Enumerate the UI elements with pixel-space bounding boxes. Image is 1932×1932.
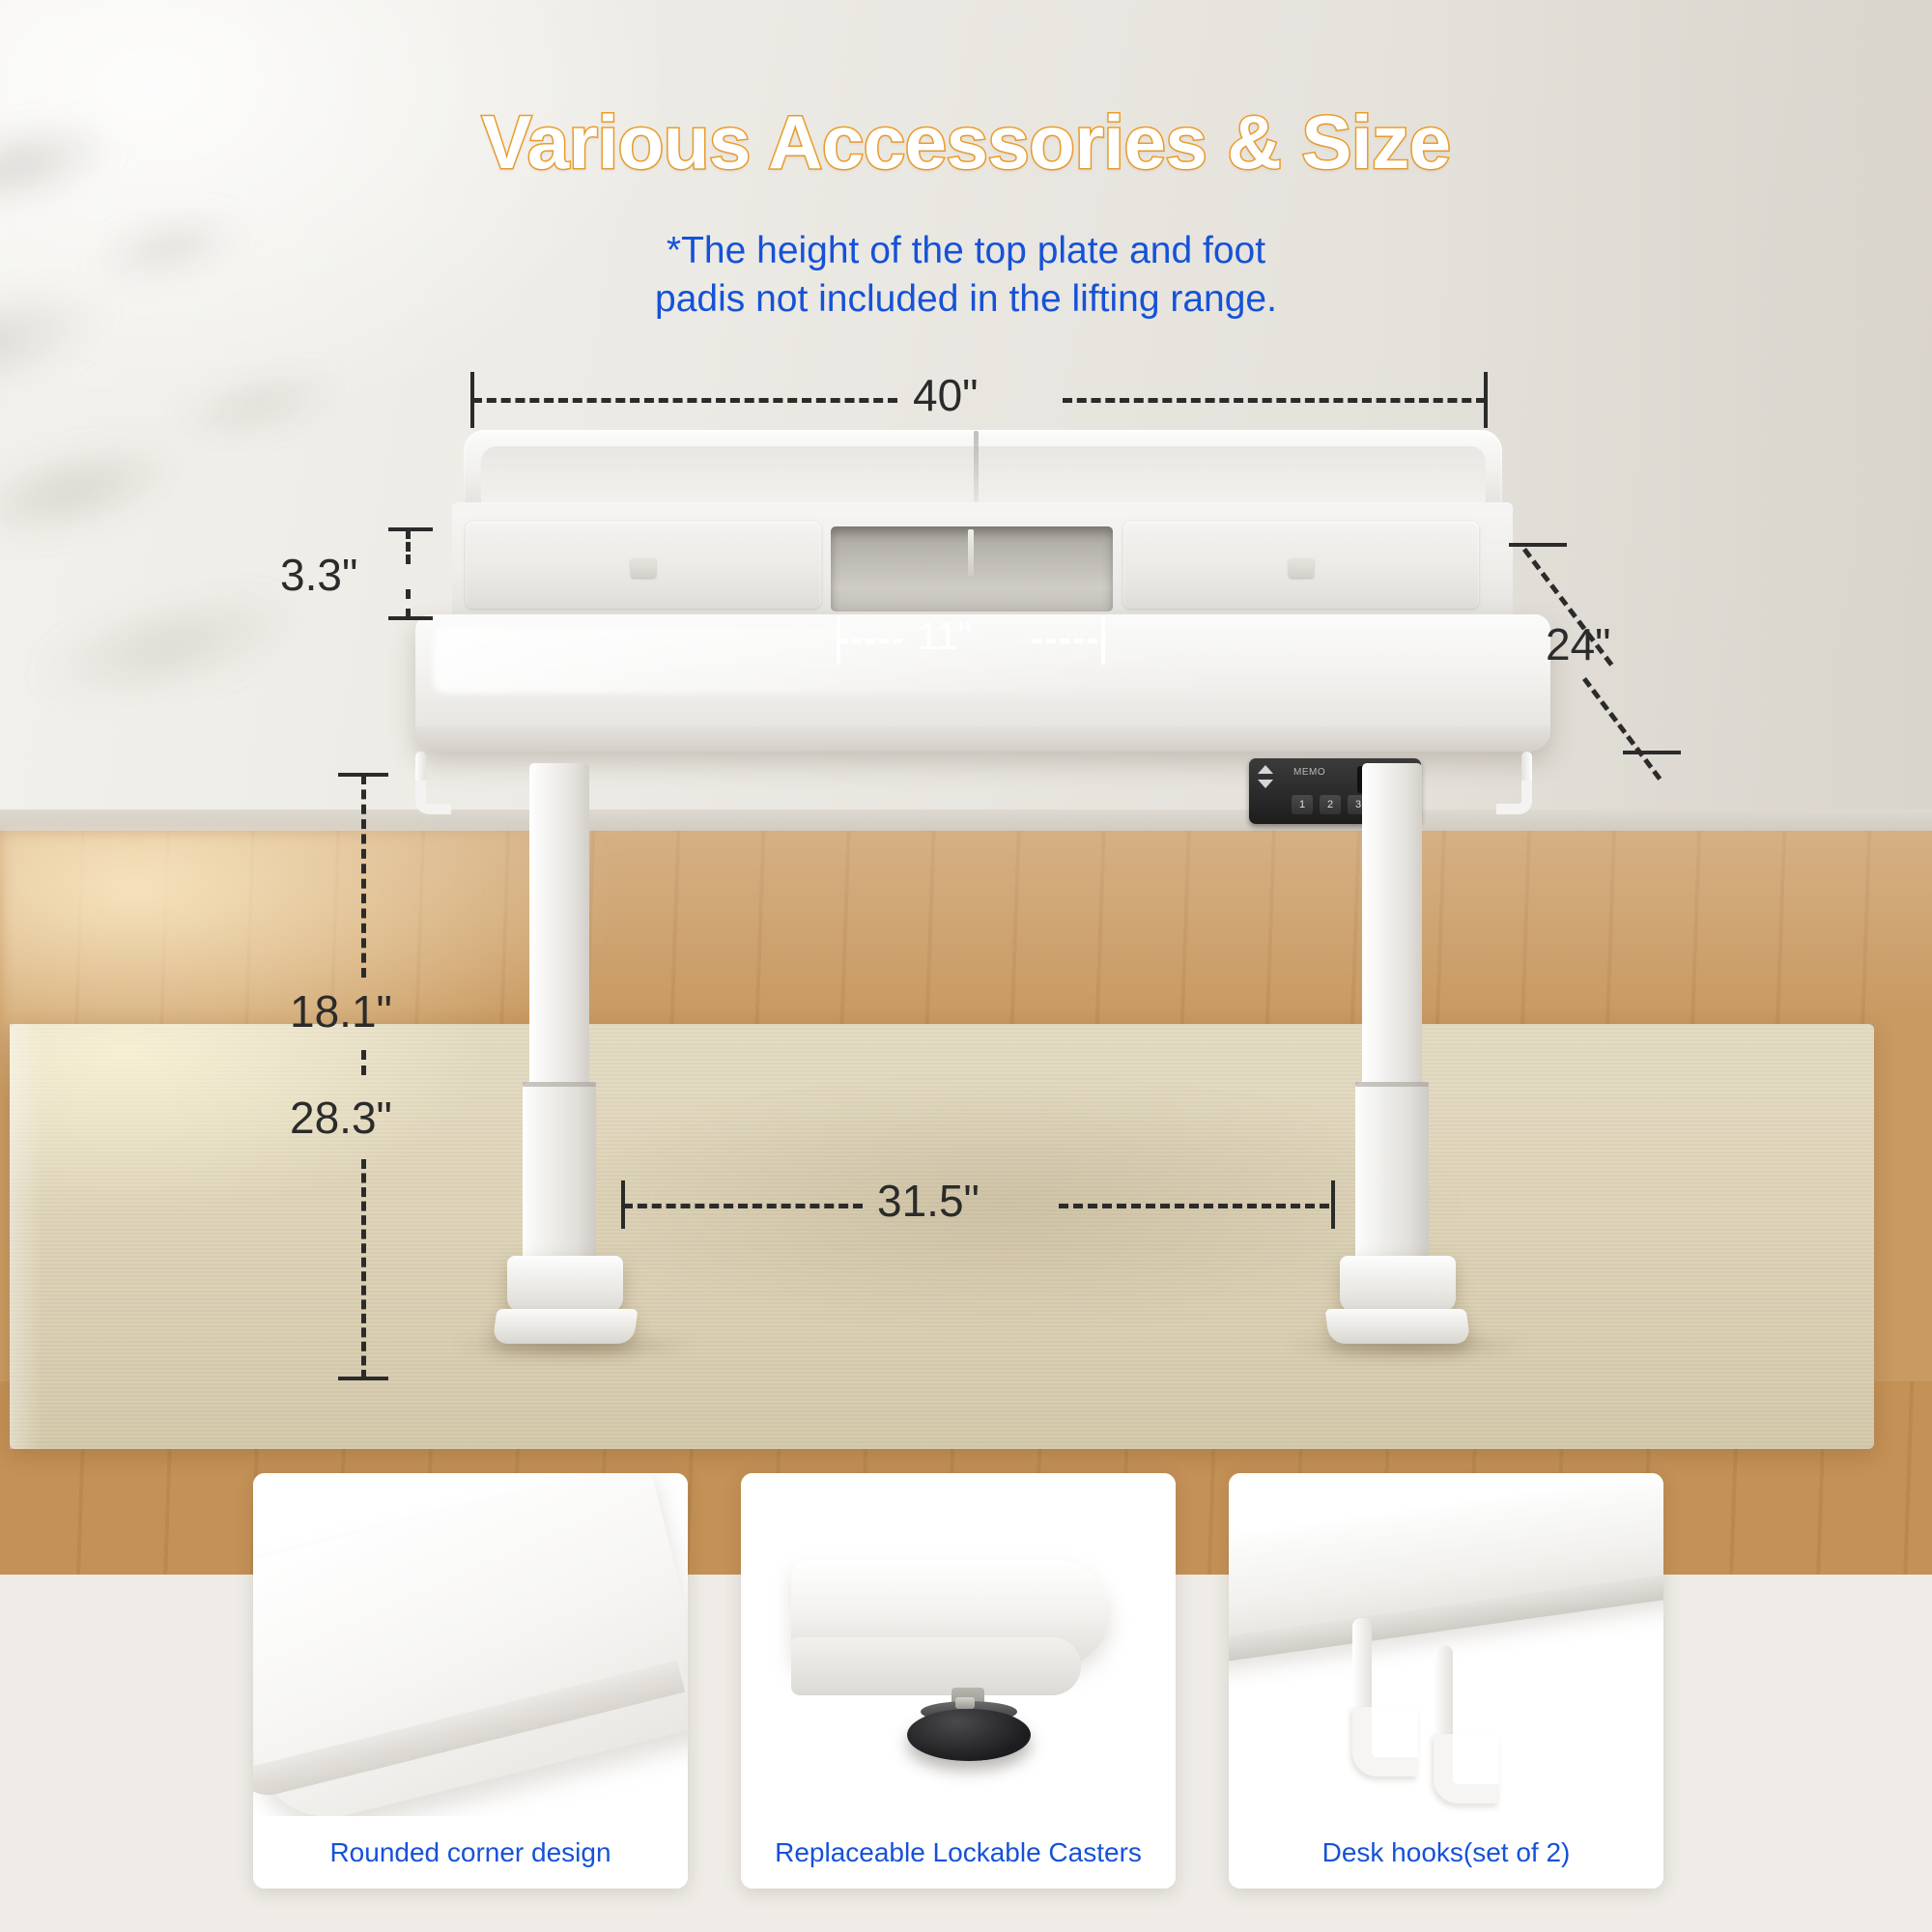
foot-span-left-dash	[623, 1204, 863, 1208]
feature-card-caption-2: Replaceable Lockable Casters	[741, 1816, 1176, 1889]
right-foot-base	[1324, 1309, 1470, 1344]
tabletop-front-edge	[415, 726, 1550, 752]
hutch-height-upper-dash	[406, 529, 411, 564]
feature-card-caption-3: Desk hooks(set of 2)	[1229, 1816, 1663, 1889]
width-right-dash	[1063, 398, 1486, 403]
right-foot	[1340, 1256, 1456, 1312]
dimension-depth-label: 24"	[1546, 618, 1611, 670]
caster-bolt	[955, 1697, 975, 1709]
feature-card-rounded-corner[interactable]: Rounded corner design	[253, 1473, 688, 1889]
left-foot-base	[492, 1309, 638, 1344]
left-foot	[507, 1256, 623, 1312]
desk-hook-left-icon	[415, 752, 440, 804]
height-arrow-group[interactable]	[1258, 765, 1281, 794]
dimension-lift-min-label: 18.1"	[290, 985, 392, 1037]
desk-hook-icon	[1229, 1473, 1663, 1816]
foot-span-right-dash	[1059, 1204, 1329, 1208]
hutch-height-lower-dash	[406, 589, 411, 618]
lift-range-upper-dash	[361, 775, 366, 978]
depth-bottom-tick	[1623, 751, 1681, 754]
hook-shape-a	[1352, 1618, 1395, 1763]
memory-label: MEMO	[1293, 767, 1325, 778]
memory-preset-1[interactable]: 1	[1292, 795, 1313, 814]
standing-desk-product: MEMO 27.6 1 2 3	[0, 0, 1932, 1449]
memory-preset-2[interactable]: 2	[1320, 795, 1341, 814]
left-drawer-handle	[631, 558, 656, 578]
right-drawer	[1123, 522, 1479, 609]
lift-range-mid-dash	[361, 1050, 366, 1075]
depth-top-tick	[1509, 543, 1567, 547]
tabletop-light-sheen	[433, 626, 1302, 694]
dimension-foot-span-label: 31.5"	[877, 1175, 980, 1227]
page-title: Various Accessories & Size	[0, 99, 1932, 186]
left-leg-lower	[523, 1082, 596, 1285]
lift-range-bottom-tick	[338, 1377, 388, 1380]
left-leg-joint	[523, 1082, 596, 1087]
cubby-divider	[968, 529, 974, 576]
right-leg-upper	[1362, 763, 1422, 1092]
desk-floor-shadow	[541, 1082, 1468, 1323]
subtitle-line-2: padis not included in the lifting range.	[0, 275, 1932, 324]
hutch-height-bottom-tick	[388, 616, 433, 620]
width-left-dash	[472, 398, 897, 403]
lift-range-lower-dash	[361, 1159, 366, 1379]
left-drawer	[466, 522, 821, 609]
hutch-height-top-tick	[388, 527, 433, 531]
hutch-center-seam	[974, 431, 979, 502]
page-subtitle: *The height of the top plate and foot pa…	[0, 227, 1932, 324]
caster-wheel	[907, 1709, 1031, 1761]
feature-card-desk-hooks[interactable]: Desk hooks(set of 2)	[1229, 1473, 1663, 1889]
cubby-left-dash	[838, 639, 902, 643]
right-leg-lower	[1355, 1082, 1429, 1285]
foot-span-right-tick	[1331, 1180, 1335, 1229]
memory-preset-group[interactable]: 1 2 3	[1292, 795, 1369, 814]
rounded-corner-icon	[253, 1473, 688, 1816]
cubby-right-dash	[1032, 639, 1097, 643]
feature-card-casters[interactable]: Replaceable Lockable Casters	[741, 1473, 1176, 1889]
subtitle-line-1: *The height of the top plate and foot	[0, 227, 1932, 275]
dimension-cubby-width-label: 11"	[918, 615, 972, 659]
dimension-lift-max-label: 28.3"	[290, 1092, 392, 1144]
hook-shape-b	[1434, 1645, 1476, 1790]
caster-wheel-icon	[741, 1473, 1176, 1816]
right-leg-joint	[1355, 1082, 1429, 1087]
caster-foot-bar-lower	[791, 1637, 1081, 1695]
feature-card-row: Rounded corner design Replaceable Lockab…	[0, 1473, 1932, 1932]
feature-card-caption-1: Rounded corner design	[253, 1816, 688, 1889]
right-drawer-handle	[1289, 558, 1314, 578]
left-leg-upper	[529, 763, 589, 1092]
chevron-down-icon[interactable]	[1258, 780, 1273, 788]
dimension-hutch-height-label: 3.3"	[280, 549, 357, 601]
chevron-up-icon[interactable]	[1258, 765, 1273, 774]
cubby-right-tick	[1101, 616, 1105, 665]
dimension-width-label: 40"	[913, 369, 979, 421]
desk-hook-right-icon	[1507, 752, 1532, 804]
width-right-tick	[1484, 372, 1488, 428]
hutch-inner-recess	[481, 446, 1486, 504]
